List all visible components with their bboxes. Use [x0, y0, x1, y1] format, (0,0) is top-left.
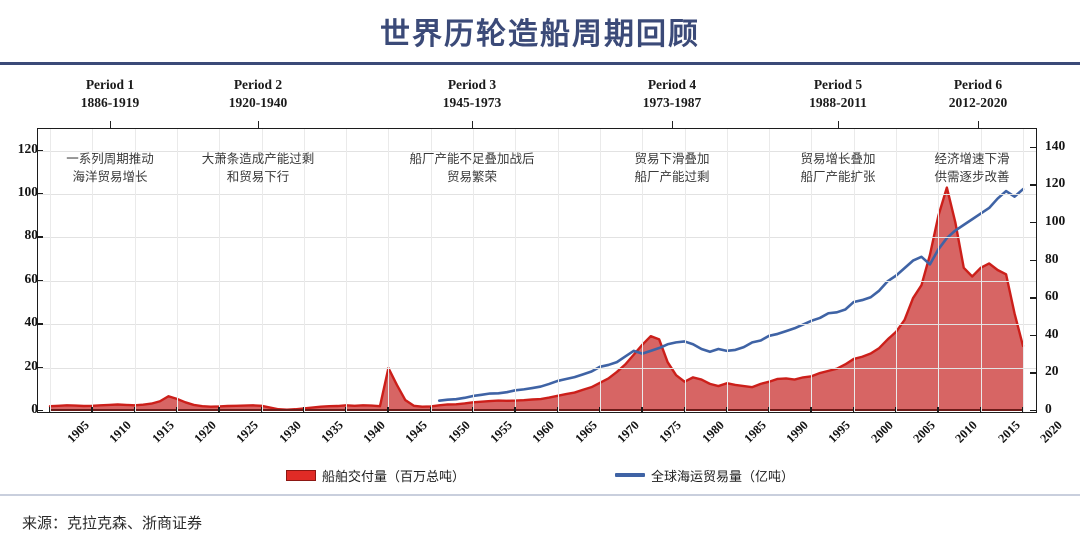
y-axis-right-tick-label: 100 [1045, 213, 1065, 229]
x-axis-tick-label: 2005 [910, 418, 938, 446]
x-axis-tick-label: 1955 [487, 418, 515, 446]
y-axis-left-tick-label: 60 [25, 271, 39, 287]
x-axis-tick-label: 1975 [657, 418, 685, 446]
x-axis-tick-label: 1920 [191, 418, 219, 446]
x-axis-tick-mark [810, 407, 811, 413]
y-axis-right-tick-mark [1030, 410, 1036, 411]
x-axis-tick-label: 2020 [1037, 418, 1065, 446]
annotation-line: 经济增速下滑 [862, 150, 1080, 168]
x-axis-tick-label: 1910 [107, 418, 135, 446]
footer-divider [0, 494, 1080, 496]
x-axis-tick-label: 2010 [953, 418, 981, 446]
period-annotation-3: 船厂产能不足叠加战后贸易繁荣 [362, 150, 582, 186]
period-header-2: Period 21920-1940 [168, 76, 348, 112]
x-axis-tick-mark [387, 407, 388, 413]
x-axis-tick-mark [684, 407, 685, 413]
annotation-line: 供需逐步改善 [862, 168, 1080, 186]
y-axis-left-tick-label: 20 [25, 358, 39, 374]
period-name: Period 3 [382, 76, 562, 94]
legend-item-seaborne-trade[interactable]: 全球海运贸易量（亿吨） [615, 466, 794, 485]
annotation-line: 大萧条造成产能过剩 [148, 150, 368, 168]
y-axis-left-tick-mark [37, 410, 43, 411]
y-axis-right-tick-label: 40 [1045, 326, 1059, 342]
y-axis-left-tick-label: 80 [25, 227, 39, 243]
annotation-line: 和贸易下行 [148, 168, 368, 186]
x-axis-tick-mark [49, 407, 50, 413]
x-axis-tick-label: 1950 [445, 418, 473, 446]
y-axis-left-tick-label: 0 [31, 401, 38, 417]
period-name: Period 4 [582, 76, 762, 94]
x-axis-tick-mark [937, 407, 938, 413]
annotation-line: 贸易繁荣 [362, 168, 582, 186]
x-axis-tick-label: 1935 [318, 418, 346, 446]
x-axis-tick-mark [134, 407, 135, 413]
legend-label-deliveries: 船舶交付量（百万总吨） [322, 466, 465, 485]
x-axis-tick-mark [1022, 407, 1023, 413]
period-band: Period 11886-1919Period 21920-1940Period… [0, 70, 1080, 128]
x-axis-tick-label: 1985 [741, 418, 769, 446]
x-axis-tick-label: 1990 [783, 418, 811, 446]
y-axis-left-tick-mark [37, 323, 43, 324]
y-axis-left-tick-label: 40 [25, 314, 39, 330]
x-axis-tick-label: 1930 [276, 418, 304, 446]
y-axis-right-tick-mark [1030, 147, 1036, 148]
x-axis-tick-label: 2000 [868, 418, 896, 446]
x-axis-tick-label: 1945 [403, 418, 431, 446]
x-axis-tick-mark [303, 407, 304, 413]
gridline-horizontal [38, 237, 1036, 238]
period-annotation-6: 经济增速下滑供需逐步改善 [862, 150, 1080, 186]
x-axis-tick-label: 1980 [699, 418, 727, 446]
period-header-4: Period 41973-1987 [582, 76, 762, 112]
x-axis-tick-mark [218, 407, 219, 413]
period-years: 1920-1940 [168, 94, 348, 112]
source-note: 来源：克拉克森、浙商证券 [22, 512, 202, 533]
x-axis-tick-mark [345, 407, 346, 413]
gridline-horizontal [38, 324, 1036, 325]
period-annotation-2: 大萧条造成产能过剩和贸易下行 [148, 150, 368, 186]
y-axis-right-tick-label: 0 [1045, 401, 1052, 417]
legend-swatch-blue-icon [615, 473, 645, 477]
y-axis-right-tick-mark [1030, 372, 1036, 373]
x-axis-tick-mark [91, 407, 92, 413]
period-years: 2012-2020 [888, 94, 1068, 112]
x-axis-tick-mark [726, 407, 727, 413]
x-axis-tick-label: 1965 [572, 418, 600, 446]
x-axis-tick-mark [641, 407, 642, 413]
x-axis-tick-mark [980, 407, 981, 413]
y-axis-right-tick-label: 80 [1045, 251, 1059, 267]
period-years: 1945-1973 [382, 94, 562, 112]
x-axis-tick-label: 2015 [995, 418, 1023, 446]
legend-item-deliveries[interactable]: 船舶交付量（百万总吨） [286, 466, 465, 485]
x-axis-tick-mark [261, 407, 262, 413]
gridline-horizontal [38, 281, 1036, 282]
x-axis-tick-mark [768, 407, 769, 413]
x-axis-tick-label: 1970 [614, 418, 642, 446]
legend-swatch-red-icon [286, 470, 316, 481]
x-axis-tick-mark [895, 407, 896, 413]
y-axis-right-tick-mark [1030, 297, 1036, 298]
x-axis-tick-label: 1925 [234, 418, 262, 446]
x-axis-tick-mark [557, 407, 558, 413]
x-axis-tick-label: 1995 [826, 418, 854, 446]
y-axis-left-tick-mark [37, 193, 43, 194]
title-divider [0, 62, 1080, 65]
y-axis-right-tick-label: 20 [1045, 363, 1059, 379]
title-bar: 世界历轮造船周期回顾 [0, 0, 1080, 62]
annotation-line: 船厂产能不足叠加战后 [362, 150, 582, 168]
y-axis-left-tick-mark [37, 367, 43, 368]
legend-label-seaborne-trade: 全球海运贸易量（亿吨） [651, 466, 794, 485]
x-axis-tick-mark [176, 407, 177, 413]
x-axis-tick-mark [599, 407, 600, 413]
x-axis-tick-label: 1960 [530, 418, 558, 446]
period-name: Period 6 [888, 76, 1068, 94]
x-axis-tick-label: 1940 [360, 418, 388, 446]
y-axis-right-tick-label: 60 [1045, 288, 1059, 304]
y-axis-right-tick-mark [1030, 260, 1036, 261]
x-axis-tick-mark [430, 407, 431, 413]
period-name: Period 2 [168, 76, 348, 94]
y-axis-left-tick-mark [37, 236, 43, 237]
series-area-deliveries [50, 188, 1023, 411]
x-axis-tick-mark [472, 407, 473, 413]
x-axis-tick-label: 1905 [64, 418, 92, 446]
chart-legend: 船舶交付量（百万总吨） 全球海运贸易量（亿吨） [0, 462, 1080, 488]
gridline-horizontal [38, 368, 1036, 369]
period-header-3: Period 31945-1973 [382, 76, 562, 112]
period-years: 1973-1987 [582, 94, 762, 112]
y-axis-left-tick-label: 100 [18, 184, 38, 200]
page-title: 世界历轮造船周期回顾 [380, 9, 700, 53]
y-axis-right-tick-mark [1030, 335, 1036, 336]
gridline-horizontal [38, 194, 1036, 195]
y-axis-left-tick-mark [37, 280, 43, 281]
period-header-6: Period 62012-2020 [888, 76, 1068, 112]
x-axis-tick-mark [853, 407, 854, 413]
x-axis-tick-mark [514, 407, 515, 413]
x-axis-tick-label: 1915 [149, 418, 177, 446]
y-axis-right-tick-mark [1030, 222, 1036, 223]
